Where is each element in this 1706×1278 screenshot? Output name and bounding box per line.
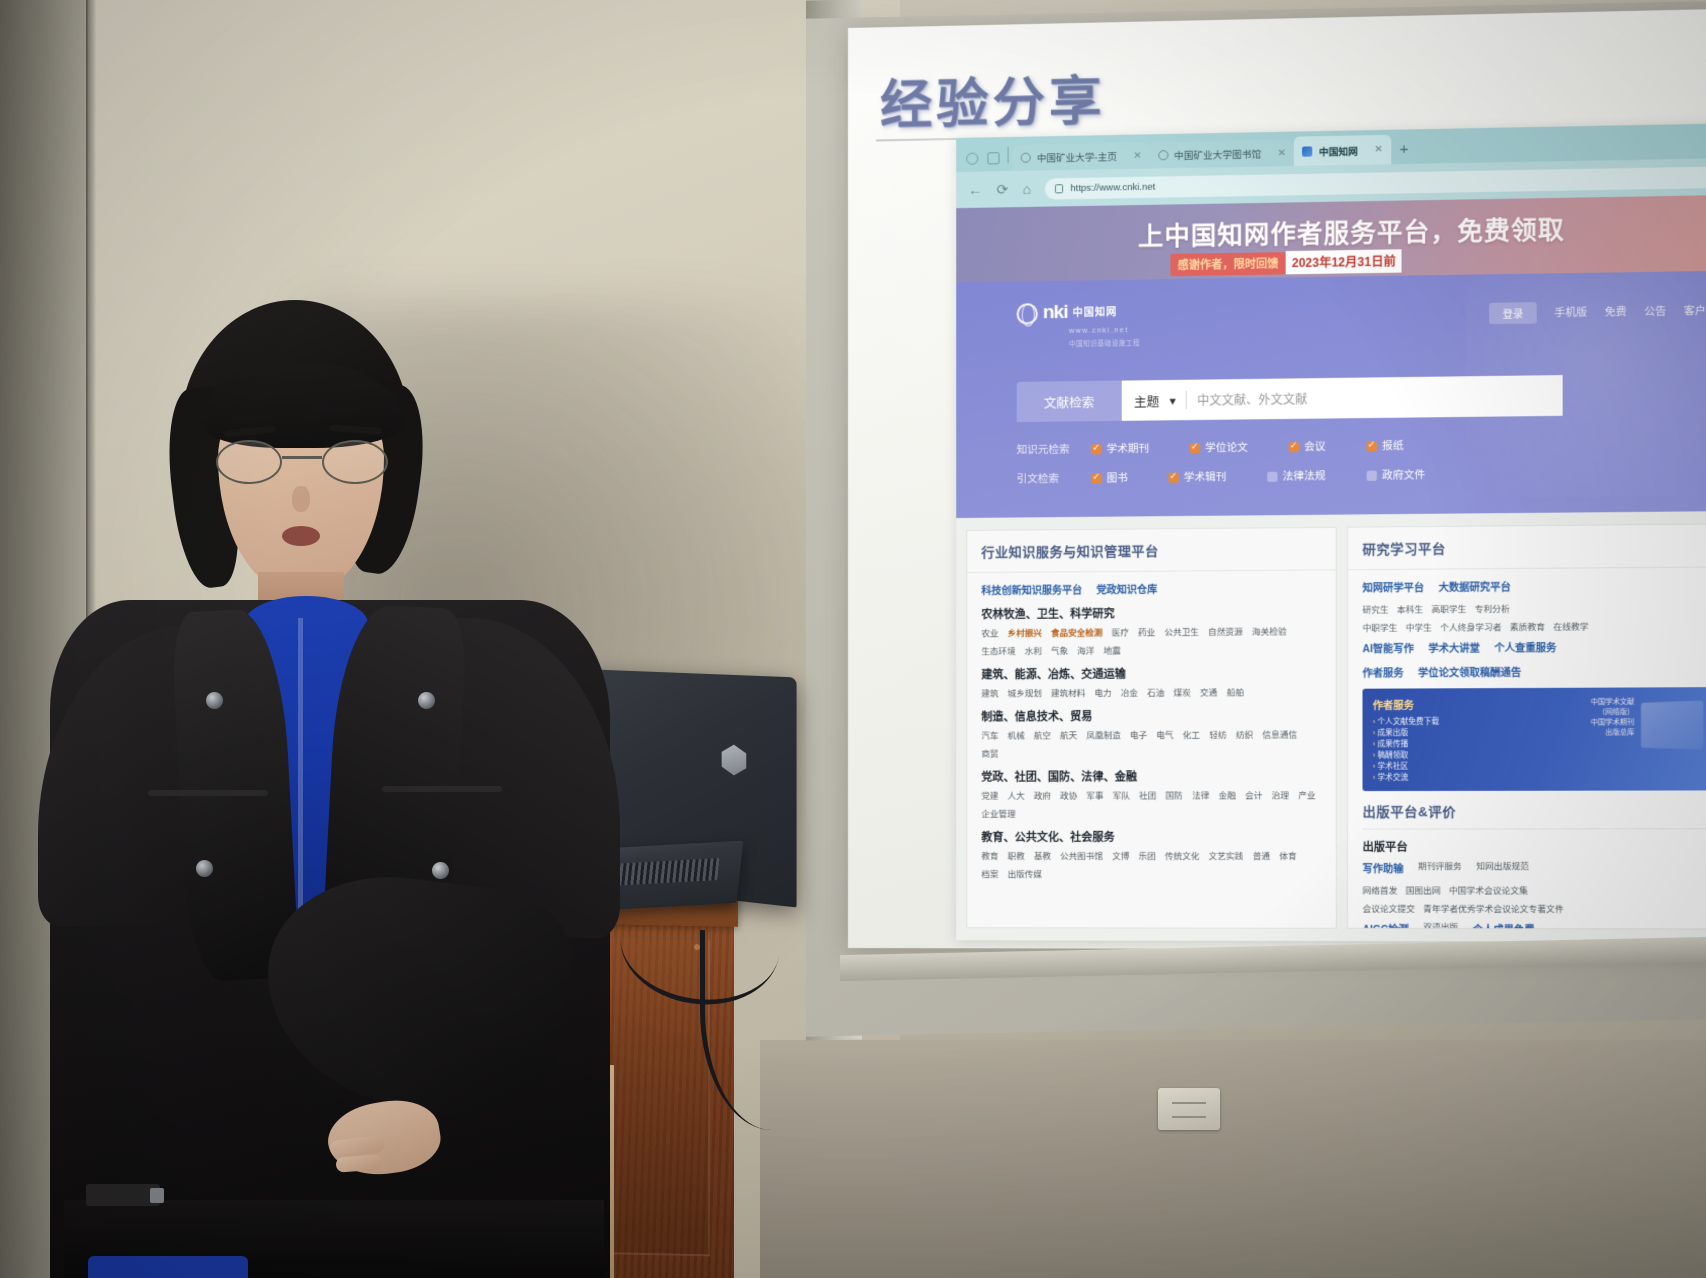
category-item[interactable]: 医疗 bbox=[1112, 626, 1129, 638]
browser-tab-label: 中国知网 bbox=[1319, 143, 1358, 158]
category-item[interactable]: 党建 bbox=[981, 790, 998, 802]
topnav-item-mobile[interactable]: 手机版 bbox=[1554, 304, 1587, 320]
card-research-study: 研究学习平台 知网研学平台 大数据研究平台 研究生 本科生 高职学生 bbox=[1347, 523, 1706, 929]
projection-screen: 经验分享 中国矿业大学-主页 ✕ bbox=[848, 9, 1706, 950]
category-item[interactable]: 政协 bbox=[1060, 790, 1077, 802]
jacket-snap-button bbox=[418, 692, 435, 709]
promo-subline: 感谢作者，限时回馈 2023年12月31日前 bbox=[1170, 249, 1401, 276]
category-item[interactable]: 信息通信 bbox=[1262, 728, 1297, 740]
side-line: 中国学术期刊 bbox=[1591, 718, 1635, 728]
pub-row-b: 会议论文提交 青年学者优秀学术会议论文专著文件 bbox=[1362, 903, 1706, 916]
promo-date: 2023年12月31日前 bbox=[1286, 249, 1402, 274]
cnki-logo-tagline: 中国知识基础设施工程 bbox=[1069, 337, 1140, 348]
link-item[interactable]: AIGC检测 bbox=[1362, 921, 1408, 929]
category-item[interactable]: 基教 bbox=[1034, 850, 1051, 862]
category-item[interactable]: 气象 bbox=[1051, 645, 1068, 657]
filter-row: 知识元检索 学术期刊 学位论文 会议 报纸 bbox=[1017, 435, 1684, 457]
category-item[interactable]: 金融 bbox=[1218, 789, 1235, 801]
study-item[interactable]: 中职学生 bbox=[1362, 622, 1397, 634]
promo-banner[interactable]: 上中国知网作者服务平台，免费领取 感谢作者，限时回馈 2023年12月31日前 bbox=[956, 195, 1706, 283]
filter-label: 法律法规 bbox=[1283, 468, 1326, 484]
card-title: 研究学习平台 bbox=[1348, 524, 1706, 570]
topnav-item-notice[interactable]: 公告 bbox=[1644, 303, 1666, 319]
category-item[interactable]: 纺织 bbox=[1236, 729, 1253, 741]
category-item[interactable]: 航天 bbox=[1060, 729, 1077, 741]
study-row-b: 中职学生 中学生 个人终身学习者 素质教育 在线教学 bbox=[1362, 620, 1706, 634]
study-item[interactable]: 本科生 bbox=[1397, 603, 1423, 615]
category-item[interactable]: 产业 bbox=[1298, 789, 1315, 801]
study-item[interactable]: 专利分析 bbox=[1475, 603, 1510, 615]
search-filters: 知识元检索 学术期刊 学位论文 会议 报纸 引文检索 图书 bbox=[1017, 435, 1684, 501]
ai-links: AI智能写作 学术大讲堂 个人查重服务 bbox=[1362, 638, 1706, 655]
filter-checkbox[interactable]: 报纸 bbox=[1367, 438, 1404, 454]
cnki-hero: nki www.cnki.net 中国知识基础设施工程 中国知网 登录 手机版 … bbox=[956, 271, 1706, 518]
checkbox-icon[interactable] bbox=[1168, 472, 1178, 482]
tab-divider bbox=[1008, 147, 1009, 163]
checkbox-icon[interactable] bbox=[1091, 473, 1101, 483]
study-row-a: 研究生 本科生 高职学生 专利分析 bbox=[1362, 601, 1706, 615]
side-line: 出版总库 bbox=[1591, 728, 1635, 738]
search-row: 文献检索 主题 ▾ 中文文献、外文文献 bbox=[1017, 375, 1563, 422]
category-item[interactable]: 汽车 bbox=[981, 729, 998, 741]
study-item[interactable]: 素质教育 bbox=[1510, 621, 1545, 633]
category-item[interactable]: 海洋 bbox=[1077, 645, 1094, 657]
jacket-snap-button bbox=[206, 692, 223, 709]
home-icon[interactable]: ⌂ bbox=[1022, 181, 1031, 197]
site-topnav: 登录 手机版 免费 公告 客户端 bbox=[1489, 300, 1706, 325]
category-items: 农业 乡村振兴 食品安全检测 医疗 药业 公共卫生 自然资源 海关检验 生态环境 bbox=[981, 625, 1321, 657]
topnav-item-client[interactable]: 客户端 bbox=[1684, 303, 1706, 319]
filter-checkbox[interactable]: 图书 bbox=[1091, 470, 1127, 485]
filter-checkbox[interactable]: 政府文件 bbox=[1367, 467, 1426, 483]
category-item[interactable]: 法律 bbox=[1192, 789, 1209, 801]
pub-links: 写作助输 期刊评服务 知网出版规范 bbox=[1362, 860, 1706, 875]
category-title: 教育、公共文化、社会服务 bbox=[981, 829, 1321, 845]
filter-checkbox[interactable]: 法律法规 bbox=[1267, 468, 1325, 484]
category-item[interactable]: 文艺实践 bbox=[1209, 850, 1244, 862]
jacket-belt-tab bbox=[86, 1184, 160, 1206]
lock-icon bbox=[1055, 184, 1063, 193]
hoodie-hem bbox=[88, 1256, 248, 1278]
study-item[interactable]: 中学生 bbox=[1406, 621, 1432, 633]
filter-label: 报纸 bbox=[1382, 438, 1404, 453]
card-links: 知网研学平台 大数据研究平台 bbox=[1362, 577, 1706, 595]
category-item[interactable]: 乡村振兴 bbox=[1008, 627, 1042, 639]
search-box[interactable]: 主题 ▾ 中文文献、外文文献 bbox=[1122, 375, 1563, 421]
category-item[interactable]: 普通 bbox=[1253, 850, 1270, 862]
category-items: 党建 人大 政府 政协 军事 军队 社团 国防 法律 金融 bbox=[981, 789, 1321, 820]
pub-row-a: 网络首发 国图出网 中国学术会议论文集 bbox=[1362, 884, 1706, 896]
link-item[interactable]: 个人查重服务 bbox=[1494, 639, 1556, 655]
link-item[interactable]: AI智能写作 bbox=[1362, 640, 1413, 655]
document-illustration-icon bbox=[1641, 700, 1703, 749]
category-item[interactable]: 传统文化 bbox=[1165, 850, 1200, 862]
category-item[interactable]: 公共卫生 bbox=[1164, 626, 1199, 638]
filter-checkbox[interactable]: 会议 bbox=[1289, 439, 1326, 455]
card-industry-knowledge: 行业知识服务与知识管理平台 科技创新知识服务平台 党政知识仓库 农林牧渔、卫生、… bbox=[966, 527, 1337, 929]
section-sub-publishing: 出版平台 bbox=[1362, 839, 1706, 855]
filter-checkbox[interactable]: 学术期刊 bbox=[1091, 441, 1149, 457]
browser-tab-label: 中国矿业大学-主页 bbox=[1037, 149, 1117, 165]
pub-item[interactable]: 国图出网 bbox=[1406, 884, 1441, 896]
category-title: 制造、信息技术、贸易 bbox=[981, 707, 1321, 724]
author-service-promo[interactable]: 作者服务 个人文献免费下载 成果出版 成果传播 稿酬领取 学术社区 学术交流 bbox=[1362, 687, 1706, 791]
tab-favicon bbox=[1303, 146, 1313, 156]
category-item[interactable]: 农业 bbox=[981, 627, 998, 639]
promo-bullet: 学术交流 bbox=[1373, 771, 1699, 783]
side-line: （网络版） bbox=[1591, 708, 1635, 718]
category-item[interactable]: 石油 bbox=[1147, 687, 1164, 699]
category-item[interactable]: 公共图书馆 bbox=[1060, 850, 1103, 862]
category-item[interactable]: 军队 bbox=[1113, 789, 1130, 801]
checkbox-icon[interactable] bbox=[1367, 470, 1377, 480]
filter-row: 引文检索 图书 学术辑刊 法律法规 政府文件 bbox=[1017, 465, 1684, 487]
category-item[interactable]: 食品安全检测 bbox=[1051, 626, 1103, 638]
card-title: 行业知识服务与知识管理平台 bbox=[967, 528, 1336, 573]
slide-title: 经验分享 bbox=[880, 59, 1106, 139]
category-item[interactable]: 自然资源 bbox=[1208, 626, 1243, 638]
topnav-item-login[interactable]: 登录 bbox=[1489, 302, 1537, 324]
category-item[interactable]: 乐团 bbox=[1139, 850, 1156, 862]
category-item[interactable]: 职教 bbox=[1008, 850, 1025, 862]
link-item[interactable]: 学术大讲堂 bbox=[1428, 639, 1480, 655]
finger bbox=[336, 1154, 383, 1172]
category-item[interactable]: 药业 bbox=[1138, 626, 1155, 638]
promo-bullet: 学术社区 bbox=[1373, 760, 1699, 772]
filter-checkbox[interactable]: 学术辑刊 bbox=[1168, 469, 1226, 485]
category-item[interactable]: 文博 bbox=[1112, 850, 1129, 862]
category-item[interactable]: 国防 bbox=[1166, 789, 1183, 801]
presenter bbox=[30, 300, 650, 1278]
promo-bullet: 稿酬领取 bbox=[1373, 749, 1699, 761]
category-item[interactable]: 会计 bbox=[1245, 789, 1262, 801]
filter-label: 会议 bbox=[1304, 439, 1326, 454]
link-item[interactable]: 学位论文领取稿酬通告 bbox=[1418, 664, 1521, 680]
filter-label: 学术期刊 bbox=[1107, 441, 1150, 457]
browser-window: 中国矿业大学-主页 ✕ 中国矿业大学图书馆 ✕ 中国知网 ✕ + bbox=[956, 123, 1706, 942]
split-screen-icon[interactable] bbox=[987, 152, 999, 164]
category-item[interactable]: 档案 bbox=[981, 868, 998, 880]
category-item[interactable]: 水利 bbox=[1025, 645, 1042, 657]
checkbox-icon[interactable] bbox=[1267, 471, 1277, 481]
category-item[interactable]: 体育 bbox=[1279, 850, 1296, 862]
cnki-logo-url: www.cnki.net bbox=[1069, 327, 1129, 335]
study-item[interactable]: 个人终身学习者 bbox=[1440, 621, 1501, 634]
category-item[interactable]: 生态环境 bbox=[981, 645, 1015, 657]
close-icon[interactable]: ✕ bbox=[1267, 147, 1286, 158]
floor bbox=[760, 1040, 1706, 1278]
category-title: 党政、社团、国防、法律、金融 bbox=[981, 768, 1321, 785]
study-item[interactable]: 高职学生 bbox=[1431, 603, 1466, 615]
category-item[interactable]: 城乡规划 bbox=[1008, 687, 1042, 699]
category-item[interactable]: 煤炭 bbox=[1174, 686, 1191, 698]
category-item[interactable]: 冶金 bbox=[1121, 687, 1138, 699]
link-item[interactable]: 大数据研究平台 bbox=[1439, 578, 1511, 594]
jacket-pocket-seam bbox=[382, 786, 502, 792]
category-item[interactable]: 治理 bbox=[1272, 789, 1289, 801]
jacket-belt-buckle bbox=[150, 1188, 164, 1203]
lecture-room-scene: 经验分享 中国矿业大学-主页 ✕ bbox=[0, 0, 1706, 1278]
topnav-item-free[interactable]: 免费 bbox=[1605, 304, 1627, 320]
category-item[interactable]: 电气 bbox=[1156, 729, 1173, 741]
link-item[interactable]: 写作助输 bbox=[1362, 860, 1403, 875]
category-item[interactable]: 航空 bbox=[1034, 729, 1051, 741]
study-item[interactable]: 研究生 bbox=[1362, 603, 1388, 615]
tab-favicon bbox=[1158, 150, 1168, 160]
url-text: https://www.cnki.net bbox=[1070, 181, 1155, 194]
category-item[interactable]: 电子 bbox=[1130, 729, 1147, 741]
pub-item[interactable]: 中国学术会议论文集 bbox=[1449, 884, 1528, 896]
category-item[interactable]: 凤凰制造 bbox=[1086, 729, 1120, 741]
pub-item[interactable]: 期刊评服务 bbox=[1418, 860, 1462, 875]
tab-overview-icon[interactable] bbox=[966, 153, 978, 165]
category-title: 建筑、能源、冶炼、交通运输 bbox=[981, 665, 1321, 683]
cnki-content-area: 行业知识服务与知识管理平台 科技创新知识服务平台 党政知识仓库 农林牧渔、卫生、… bbox=[956, 511, 1706, 942]
laptop-brand-logo-icon bbox=[722, 744, 747, 776]
filter-label: 学位论文 bbox=[1205, 440, 1248, 456]
pub-item[interactable]: 双语出版 bbox=[1423, 921, 1458, 929]
browser-tab-label: 中国矿业大学图书馆 bbox=[1174, 146, 1261, 162]
category-item[interactable]: 企业管理 bbox=[981, 808, 1015, 820]
link-item[interactable]: 科技创新知识服务平台 bbox=[981, 581, 1082, 597]
filter-label: 政府文件 bbox=[1382, 467, 1425, 483]
checkbox-icon[interactable] bbox=[1190, 443, 1200, 453]
wall-power-outlet[interactable] bbox=[1158, 1088, 1220, 1130]
cnki-logo[interactable]: nki www.cnki.net 中国知识基础设施工程 中国知网 bbox=[1017, 302, 1118, 325]
pub-item[interactable]: 网络首发 bbox=[1362, 884, 1397, 896]
pub-item[interactable]: 青年学者优秀学术会议论文专著文件 bbox=[1423, 903, 1564, 915]
category-item[interactable]: 海关检验 bbox=[1252, 625, 1287, 637]
category-item[interactable]: 建筑材料 bbox=[1051, 687, 1085, 699]
hoodie-zipper bbox=[298, 618, 303, 948]
globe-icon bbox=[1017, 303, 1038, 324]
category-item[interactable]: 交通 bbox=[1200, 686, 1217, 698]
nose bbox=[292, 486, 310, 512]
category-item[interactable]: 地震 bbox=[1104, 644, 1121, 656]
url-input[interactable]: https://www.cnki.net bbox=[1045, 166, 1706, 199]
category-item[interactable]: 社团 bbox=[1139, 789, 1156, 801]
pub-links2: AIGC检测 双语出版 个人成果免费 bbox=[1362, 921, 1706, 929]
filter-label: 图书 bbox=[1107, 470, 1128, 485]
checkbox-icon[interactable] bbox=[1289, 442, 1299, 452]
eyeglasses bbox=[216, 440, 388, 484]
cnki-logo-word: nki bbox=[1043, 303, 1068, 323]
promo-headline: 上中国知网作者服务平台，免费领取 bbox=[1138, 210, 1565, 253]
browser-tab-0[interactable]: 中国矿业大学-主页 ✕ bbox=[1013, 142, 1150, 171]
mouth bbox=[282, 526, 320, 546]
category-item[interactable]: 政府 bbox=[1034, 790, 1051, 802]
side-line: 中国学术文献 bbox=[1591, 698, 1635, 708]
checkbox-icon[interactable] bbox=[1091, 444, 1101, 454]
search-field-selector[interactable]: 主题 bbox=[1134, 391, 1159, 410]
tab-literature-search[interactable]: 文献检索 bbox=[1017, 381, 1122, 422]
filter-row-label: 引文检索 bbox=[1017, 471, 1092, 487]
category-item[interactable]: 机械 bbox=[1008, 729, 1025, 741]
category-item[interactable]: 人大 bbox=[1008, 790, 1025, 802]
chevron-down-icon[interactable]: ▾ bbox=[1169, 393, 1175, 408]
category-title: 农林牧渔、卫生、科学研究 bbox=[981, 604, 1321, 622]
category-item[interactable]: 出版传媒 bbox=[1008, 868, 1042, 880]
filter-row-label: 知识元检索 bbox=[1017, 441, 1092, 457]
link-item[interactable]: 作者服务 bbox=[1362, 664, 1403, 679]
filter-label: 学术辑刊 bbox=[1184, 469, 1227, 485]
reload-icon[interactable]: ⟳ bbox=[996, 181, 1008, 198]
section-title-publishing: 出版平台&评价 bbox=[1362, 790, 1706, 829]
browser-tab-1[interactable]: 中国矿业大学图书馆 ✕ bbox=[1150, 140, 1295, 169]
close-icon[interactable]: ✕ bbox=[1123, 150, 1142, 161]
pub-item[interactable]: 会议论文提交 bbox=[1362, 903, 1414, 915]
lens-right bbox=[322, 440, 388, 484]
browser-tab-2[interactable]: 中国知网 ✕ bbox=[1294, 135, 1391, 166]
study-item[interactable]: 在线教学 bbox=[1553, 620, 1588, 632]
glasses-bridge bbox=[282, 456, 322, 459]
search-divider bbox=[1186, 391, 1187, 409]
promo-card-side-text: 中国学术文献 （网络版） 中国学术期刊 出版总库 bbox=[1591, 698, 1635, 739]
jacket-snap-button bbox=[432, 862, 449, 879]
category-item[interactable]: 军事 bbox=[1086, 790, 1103, 802]
card-links: 科技创新知识服务平台 党政知识仓库 bbox=[981, 580, 1321, 598]
link-item[interactable]: 个人成果免费 bbox=[1473, 921, 1535, 929]
lens-left bbox=[216, 440, 282, 484]
search-input-placeholder[interactable]: 中文文献、外文文献 bbox=[1197, 390, 1307, 408]
category-item[interactable]: 商贸 bbox=[981, 748, 998, 760]
jacket-pocket-seam bbox=[148, 790, 268, 796]
category-item[interactable]: 船舶 bbox=[1227, 686, 1244, 698]
promo-pill: 感谢作者，限时回馈 bbox=[1170, 252, 1285, 276]
link-item[interactable]: 党政知识仓库 bbox=[1096, 581, 1157, 597]
category-item[interactable]: 轻纺 bbox=[1209, 729, 1226, 741]
tab-window-controls[interactable] bbox=[962, 152, 1007, 172]
category-items: 教育 职教 基教 公共图书馆 文博 乐团 传统文化 文艺实践 普通 体育 bbox=[981, 850, 1321, 880]
link-item[interactable]: 知网研学平台 bbox=[1362, 579, 1424, 595]
category-item[interactable]: 化工 bbox=[1183, 729, 1200, 741]
pub-item[interactable]: 知网出版规范 bbox=[1476, 860, 1529, 875]
category-items: 建筑 城乡规划 建筑材料 电力 冶金 石油 煤炭 交通 船舶 bbox=[981, 686, 1321, 700]
filter-checkbox[interactable]: 学位论文 bbox=[1190, 440, 1248, 456]
cnki-logo-cn: 中国知网 bbox=[1073, 303, 1118, 319]
category-item[interactable]: 电力 bbox=[1094, 687, 1111, 699]
close-icon[interactable]: ✕ bbox=[1364, 144, 1383, 155]
checkbox-icon[interactable] bbox=[1367, 441, 1377, 451]
back-icon[interactable]: ← bbox=[968, 182, 982, 198]
author-links: 作者服务 学位论文领取稿酬通告 bbox=[1362, 663, 1706, 680]
category-item[interactable]: 建筑 bbox=[981, 687, 998, 699]
category-item[interactable]: 教育 bbox=[981, 850, 998, 862]
category-items: 汽车 机械 航空 航天 凤凰制造 电子 电气 化工 轻纺 纺织 bbox=[981, 728, 1321, 759]
tab-favicon bbox=[1021, 153, 1031, 163]
jacket-snap-button bbox=[196, 860, 213, 877]
new-tab-button[interactable]: + bbox=[1391, 140, 1416, 164]
